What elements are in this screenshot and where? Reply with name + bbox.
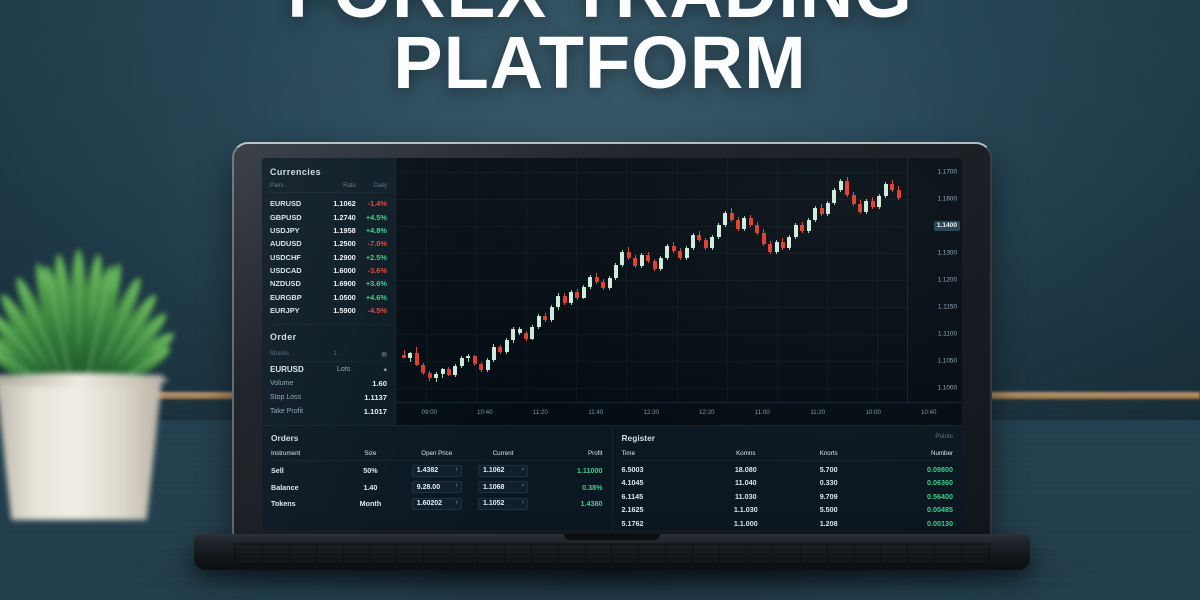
quote-price: 1.2500 — [319, 239, 356, 248]
keyboard-key[interactable] — [935, 550, 961, 554]
grid-line-vertical — [727, 158, 728, 402]
grid-line-horizontal — [396, 361, 907, 362]
keyboard-key[interactable] — [747, 550, 773, 554]
keyboard-key[interactable] — [397, 555, 423, 559]
laptop-screen: Currencies Pairs Rate Daily EURUSD1.1062… — [262, 158, 962, 530]
orders-table-header: Instrument Size Open Price Current Profi… — [271, 448, 603, 461]
keyboard-key[interactable] — [666, 555, 692, 559]
keyboard-key[interactable] — [693, 550, 719, 554]
keyboard-key[interactable] — [478, 559, 504, 563]
keyboard-key[interactable] — [532, 545, 558, 549]
keyboard-key[interactable] — [236, 550, 262, 554]
quote-change: -1.4% — [356, 199, 387, 208]
order-size: Month — [337, 499, 403, 508]
keyboard-key[interactable] — [424, 555, 450, 559]
keyboard-key[interactable] — [639, 545, 665, 549]
keyboard-key[interactable] — [908, 545, 934, 549]
keyboard-key[interactable] — [855, 559, 881, 563]
keyboard-key[interactable] — [397, 550, 423, 554]
keyboard-key[interactable] — [236, 559, 262, 563]
keyboard-key[interactable] — [559, 555, 585, 559]
keyboard-key[interactable] — [962, 555, 988, 559]
potted-plant — [0, 195, 205, 525]
keyboard-key[interactable] — [478, 545, 504, 549]
price-axis-tick: 1.1600 — [937, 195, 957, 202]
order-size: 1.40 — [337, 483, 403, 492]
trading-app: Currencies Pairs Rate Daily EURUSD1.1062… — [262, 158, 962, 530]
time-axis-tick: 12:30 — [644, 409, 659, 416]
keyboard-key[interactable] — [236, 555, 262, 559]
order-instrument: Balance — [271, 483, 337, 492]
grid-icon[interactable]: ▦ — [381, 351, 387, 358]
order-profit: 0.38% — [536, 483, 602, 492]
keyboard-key[interactable] — [263, 550, 289, 554]
orders-table-title: Orders — [271, 433, 603, 443]
grid-line-horizontal — [396, 334, 907, 335]
grid-line-vertical — [877, 158, 878, 402]
keyboard-key[interactable] — [370, 559, 396, 563]
orders-col-size: Size — [337, 450, 403, 457]
order-subheader: Shares 1 ▦ — [270, 348, 387, 362]
order-field-row[interactable]: Stop Loss1.1137 — [270, 390, 387, 404]
grid-line-vertical — [526, 158, 527, 402]
keyboard-key[interactable] — [290, 559, 316, 563]
quote-change: -3.6% — [356, 266, 387, 275]
order-field-value: 1.1137 — [364, 393, 387, 402]
quote-price: 1.2900 — [319, 253, 356, 262]
quote-row[interactable]: EURJPY1.5900-4.5% — [270, 304, 387, 317]
grid-line-vertical — [626, 158, 627, 402]
history-number: 0.06360 — [870, 478, 953, 487]
quotes-col-pairs: Pairs — [270, 183, 319, 189]
grid-line-horizontal — [396, 280, 907, 281]
quote-row[interactable]: EURGBP1.0500+4.6% — [270, 291, 387, 304]
history-table-title: Register — [622, 433, 954, 443]
keyboard-key[interactable] — [612, 545, 638, 549]
history-number: 0.56400 — [870, 492, 953, 501]
keyboard-key[interactable] — [935, 555, 961, 559]
table-row[interactable]: 6.500318.0805.7000.09800 — [622, 462, 954, 476]
quote-row[interactable]: EURUSD1.1062-1.4% — [270, 197, 387, 210]
keyboard-key[interactable] — [424, 559, 450, 563]
laptop: Currencies Pairs Rate Daily EURUSD1.1062… — [232, 142, 992, 562]
history-number: 0.00130 — [870, 519, 953, 528]
keyboard-key[interactable] — [586, 545, 612, 549]
app-upper-region: Currencies Pairs Rate Daily EURUSD1.1062… — [262, 158, 962, 425]
price-axis-tick: 1.1100 — [938, 331, 957, 338]
price-axis-tick: 1.1200 — [937, 277, 957, 284]
keyboard-key[interactable] — [666, 550, 692, 554]
order-size: 50% — [337, 466, 403, 475]
grid-line-vertical — [677, 158, 678, 402]
keyboard-key[interactable] — [881, 545, 907, 549]
quote-row[interactable]: USDCAD1.6000-3.6% — [270, 264, 387, 277]
quote-symbol: USDCHF — [270, 253, 319, 262]
grid-line-vertical — [476, 158, 477, 402]
order-fields: Volume1.60Stop Loss1.1137Take Profit1.10… — [270, 376, 387, 419]
quote-change: +4.8% — [356, 226, 387, 235]
history-komns: 1.1.000 — [704, 519, 787, 528]
order-instrument: Tokens — [271, 499, 337, 508]
time-axis-tick: 09:00 — [422, 409, 437, 416]
plant-pot — [0, 375, 168, 520]
keyboard-key[interactable] — [801, 550, 827, 554]
table-row[interactable]: 4.104511.0400.3300.06360 — [622, 476, 954, 490]
history-number: 0.09800 — [870, 465, 953, 474]
grid-line-horizontal — [396, 226, 907, 227]
table-row[interactable]: 5.17621.1.0001.2080.00130 — [622, 517, 954, 530]
keyboard-key[interactable] — [881, 550, 907, 554]
order-field-label: Stop Loss — [270, 394, 301, 401]
quote-price: 1.1062 — [319, 199, 356, 208]
keyboard-key[interactable] — [720, 559, 746, 563]
price-axis: 1.17001.16001.14001.13001.12001.11501.11… — [907, 158, 962, 402]
order-pair: EURUSD — [270, 365, 304, 374]
quote-row[interactable]: USDCHF1.2900+2.5% — [270, 251, 387, 264]
price-axis-tick: 1.1000 — [937, 385, 957, 392]
orders-col-current: Current — [470, 450, 536, 457]
keyboard-key[interactable] — [505, 545, 531, 549]
time-axis: 09:0010:4011:2011:4012:3012:2011:0011:20… — [396, 402, 962, 425]
keyboard-key[interactable] — [478, 555, 504, 559]
history-time: 6.1145 — [622, 492, 705, 501]
quote-row[interactable]: NZDUSD1.6900+3.6% — [270, 277, 387, 290]
keyboard-key[interactable] — [370, 555, 396, 559]
keyboard-key[interactable] — [962, 559, 988, 563]
keyboard-key[interactable] — [317, 559, 343, 563]
quote-price: 1.0500 — [319, 293, 356, 302]
keyboard-key[interactable] — [586, 550, 612, 554]
keyboard-key[interactable] — [828, 550, 854, 554]
keyboard-key[interactable] — [559, 550, 585, 554]
time-axis-tick: 11:20 — [533, 409, 548, 416]
keyboard-key[interactable] — [612, 559, 638, 563]
history-knorts: 5.700 — [787, 465, 870, 474]
time-axis-tick: 11:00 — [755, 409, 770, 416]
keyboard-key[interactable] — [290, 550, 316, 554]
table-row[interactable]: 2.16251.1.0305.5000.00485 — [622, 503, 954, 517]
grid-line-horizontal — [396, 388, 907, 389]
keyboard-key[interactable] — [451, 550, 477, 554]
chart-main: 1.17001.16001.14001.13001.12001.11501.11… — [396, 158, 962, 402]
quotes-col-rate: Rate — [319, 183, 356, 189]
history-more-label[interactable]: Points — [935, 433, 953, 440]
laptop-base — [194, 534, 1030, 570]
history-knorts: 5.500 — [787, 505, 870, 514]
order-current-price[interactable]: 1.1068 — [478, 481, 528, 493]
quote-symbol: NZDUSD — [270, 279, 319, 288]
keyboard-key[interactable] — [451, 545, 477, 549]
keyboard-key[interactable] — [532, 550, 558, 554]
history-komns: 11.030 — [704, 492, 787, 501]
keyboard-key[interactable] — [855, 555, 881, 559]
headline-line-2: PLATFORM — [0, 27, 1200, 98]
order-pair-side: Lots — [337, 366, 350, 373]
quote-symbol: EURGBP — [270, 293, 319, 302]
grid-line-horizontal — [396, 199, 907, 200]
quote-symbol: USDCAD — [270, 266, 319, 275]
chevron-up-icon[interactable]: ▴ — [383, 365, 387, 373]
order-shares-label: Shares — [270, 351, 289, 357]
laptop-notch — [564, 534, 660, 540]
price-axis-tick: 1.1300 — [937, 249, 957, 256]
keyboard-key[interactable] — [344, 555, 370, 559]
order-current-price[interactable]: 1.1062 — [478, 465, 528, 477]
table-row[interactable]: Sell50%1.43821.10621.11000 — [271, 462, 603, 479]
keyboard-key[interactable] — [774, 545, 800, 549]
keyboard-key[interactable] — [801, 555, 827, 559]
keyboard-key[interactable] — [935, 559, 961, 563]
keyboard-key[interactable] — [344, 550, 370, 554]
time-axis-tick: 12:20 — [699, 409, 714, 416]
order-pair-row[interactable]: EURUSD Lots ▴ — [270, 362, 387, 376]
keyboard-key[interactable] — [908, 550, 934, 554]
order-current-price[interactable]: 1.1052 — [478, 498, 528, 510]
app-lower-region: Orders Instrument Size Open Price Curren… — [262, 425, 962, 530]
quote-row[interactable]: GBPUSD1.2740+4.5% — [270, 210, 387, 223]
keyboard-key[interactable] — [720, 555, 746, 559]
time-axis-tick: 10:00 — [865, 409, 880, 416]
keyboard-key[interactable] — [774, 550, 800, 554]
grid-line-vertical — [827, 158, 828, 402]
keyboard-key[interactable] — [908, 555, 934, 559]
keyboard-key[interactable] — [263, 555, 289, 559]
keyboard-key[interactable] — [881, 555, 907, 559]
keyboard-key[interactable] — [855, 550, 881, 554]
table-row[interactable]: TokensMonth1.602021.10521.4380 — [271, 495, 603, 512]
order-field-label: Volume — [270, 380, 293, 387]
order-open-price[interactable]: 9.28.00 — [412, 481, 462, 493]
quote-symbol: AUDUSD — [270, 239, 319, 248]
grid-line-vertical — [777, 158, 778, 402]
keyboard-key[interactable] — [290, 545, 316, 549]
keyboard-key[interactable] — [747, 559, 773, 563]
keyboard-key[interactable] — [693, 545, 719, 549]
keyboard-key[interactable] — [828, 555, 854, 559]
order-field-value: 1.1017 — [364, 407, 387, 416]
keyboard-key[interactable] — [370, 545, 396, 549]
keyboard-key[interactable] — [801, 559, 827, 563]
grid-line-vertical — [426, 158, 427, 402]
price-axis-tick: 1.1150 — [938, 304, 957, 311]
order-field-label: Take Profit — [270, 408, 303, 415]
order-shares-value: 1 — [334, 351, 337, 357]
table-row[interactable]: 6.114511.0309.7090.56400 — [622, 489, 954, 503]
keyboard-key[interactable] — [855, 545, 881, 549]
time-axis-tick: 11:40 — [588, 409, 603, 416]
history-table-body: 6.500318.0805.7000.098004.104511.0400.33… — [622, 462, 954, 530]
time-axis-tick: 11:20 — [810, 409, 825, 416]
quote-change: +4.6% — [356, 293, 387, 302]
keyboard-key[interactable] — [586, 555, 612, 559]
keyboard-key[interactable] — [424, 550, 450, 554]
history-knorts: 1.208 — [787, 519, 870, 528]
keyboard-key[interactable] — [451, 555, 477, 559]
grid-line-horizontal — [396, 307, 907, 308]
keyboard-key[interactable] — [612, 550, 638, 554]
order-profit: 1.11000 — [536, 466, 602, 475]
history-knorts: 0.330 — [787, 478, 870, 487]
keyboard-key[interactable] — [639, 550, 665, 554]
chart-panel: 1.17001.16001.14001.13001.12001.11501.11… — [396, 158, 962, 425]
grid-line-horizontal — [396, 172, 907, 173]
keyboard-key[interactable] — [935, 545, 961, 549]
time-axis-tick: 10:40 — [477, 409, 492, 416]
keyboard-key[interactable] — [666, 559, 692, 563]
time-axis-tick: 10:40 — [921, 409, 936, 416]
scene: FOREX TRADING PLATFORM Currencies Pairs … — [0, 0, 1200, 600]
history-table-header: Time Komns Knorts Number — [622, 448, 954, 461]
history-time: 5.1762 — [622, 519, 705, 528]
keyboard-key[interactable] — [559, 545, 585, 549]
order-field-row[interactable]: Take Profit1.1017 — [270, 405, 387, 419]
quotes-panel-title: Currencies — [270, 167, 387, 177]
orders-col-profit: Profit — [536, 450, 602, 457]
quote-symbol: EURUSD — [270, 199, 319, 208]
history-time: 2.1625 — [622, 505, 705, 514]
keyboard-key[interactable] — [559, 559, 585, 563]
keyboard-key[interactable] — [370, 550, 396, 554]
keyboard-key[interactable] — [962, 545, 988, 549]
price-axis-tick: 1.1700 — [937, 168, 957, 175]
history-col-knorts: Knorts — [787, 450, 870, 457]
keyboard-key[interactable] — [344, 545, 370, 549]
keyboard[interactable] — [234, 543, 990, 565]
keyboard-key[interactable] — [424, 545, 450, 549]
keyboard-key[interactable] — [639, 559, 665, 563]
quote-change: +3.6% — [356, 279, 387, 288]
keyboard-key[interactable] — [263, 545, 289, 549]
history-komns: 18.080 — [704, 465, 787, 474]
keyboard-key[interactable] — [397, 559, 423, 563]
orders-table-body: Sell50%1.43821.10621.11000Balance1.409.2… — [271, 462, 603, 512]
keyboard-key[interactable] — [908, 559, 934, 563]
keyboard-key[interactable] — [747, 555, 773, 559]
quote-price: 1.2740 — [319, 213, 356, 222]
price-axis-tick: 1.1050 — [937, 358, 957, 365]
keyboard-key[interactable] — [881, 559, 907, 563]
keyboard-key[interactable] — [344, 559, 370, 563]
keyboard-key[interactable] — [397, 545, 423, 549]
keyboard-key[interactable] — [720, 545, 746, 549]
history-col-komns: Komns — [704, 450, 787, 457]
keyboard-key[interactable] — [532, 559, 558, 563]
orders-table-panel: Orders Instrument Size Open Price Curren… — [262, 426, 612, 530]
keyboard-key[interactable] — [263, 559, 289, 563]
quote-change: -7.0% — [356, 239, 387, 248]
order-open-price[interactable]: 1.60202 — [412, 498, 462, 510]
order-open-price[interactable]: 1.4382 — [412, 465, 462, 477]
keyboard-key[interactable] — [774, 559, 800, 563]
keyboard-key[interactable] — [774, 555, 800, 559]
keyboard-key[interactable] — [693, 555, 719, 559]
keyboard-key[interactable] — [962, 550, 988, 554]
keyboard-key[interactable] — [505, 559, 531, 563]
quote-symbol: EURJPY — [270, 306, 319, 315]
quote-symbol: USDJPY — [270, 226, 319, 235]
quote-price: 1.6000 — [319, 266, 356, 275]
order-profit: 1.4380 — [536, 499, 602, 508]
quote-price: 1.5900 — [319, 306, 356, 315]
history-col-time: Time — [622, 450, 705, 457]
quote-change: -4.5% — [356, 306, 387, 315]
quote-row[interactable]: AUDUSD1.2500-7.0% — [270, 237, 387, 250]
keyboard-key[interactable] — [828, 545, 854, 549]
keyboard-key[interactable] — [505, 550, 531, 554]
quotes-col-daily: Daily — [356, 183, 387, 189]
price-tag-current: 1.1400 — [934, 221, 960, 231]
candlestick-plot[interactable] — [396, 158, 907, 402]
keyboard-key[interactable] — [720, 550, 746, 554]
order-field-row[interactable]: Volume1.60 — [270, 376, 387, 390]
history-komns: 1.1.030 — [704, 505, 787, 514]
quotes-header: Pairs Rate Daily — [270, 183, 387, 193]
orders-col-open: Open Price — [404, 450, 470, 457]
history-time: 6.5003 — [622, 465, 705, 474]
sidebar: Currencies Pairs Rate Daily EURUSD1.1062… — [262, 158, 396, 425]
history-time: 4.1045 — [622, 478, 705, 487]
keyboard-key[interactable] — [586, 559, 612, 563]
keyboard-key[interactable] — [505, 555, 531, 559]
keyboard-key[interactable] — [747, 545, 773, 549]
keyboard-key[interactable] — [290, 555, 316, 559]
quote-change: +4.5% — [356, 213, 387, 222]
history-number: 0.00485 — [870, 505, 953, 514]
keyboard-key[interactable] — [317, 555, 343, 559]
grid-line-horizontal — [396, 253, 907, 254]
keyboard-key[interactable] — [451, 559, 477, 563]
quote-symbol: GBPUSD — [270, 213, 319, 222]
keyboard-key[interactable] — [666, 545, 692, 549]
table-row[interactable]: Balance1.409.28.001.10680.38% — [271, 479, 603, 496]
keyboard-key[interactable] — [639, 555, 665, 559]
history-komns: 11.040 — [704, 478, 787, 487]
history-col-number: Number — [870, 450, 953, 457]
keyboard-key[interactable] — [317, 545, 343, 549]
keyboard-key[interactable] — [478, 550, 504, 554]
keyboard-key[interactable] — [236, 545, 262, 549]
quote-row[interactable]: USDJPY1.1958+4.8% — [270, 224, 387, 237]
order-instrument: Sell — [271, 466, 337, 475]
quote-change: +2.5% — [356, 253, 387, 262]
history-knorts: 9.709 — [787, 492, 870, 501]
keyboard-key[interactable] — [612, 555, 638, 559]
keyboard-key[interactable] — [693, 559, 719, 563]
orders-col-instrument: Instrument — [271, 450, 337, 457]
history-table-panel: Register Points Time Komns Knorts Number… — [612, 426, 963, 530]
keyboard-key[interactable] — [317, 550, 343, 554]
keyboard-key[interactable] — [828, 559, 854, 563]
keyboard-key[interactable] — [532, 555, 558, 559]
quote-price: 1.1958 — [319, 226, 356, 235]
order-field-value: 1.60 — [372, 379, 387, 388]
keyboard-key[interactable] — [801, 545, 827, 549]
page-title: FOREX TRADING PLATFORM — [0, 0, 1200, 98]
quotes-list: EURUSD1.1062-1.4%GBPUSD1.2740+4.5%USDJPY… — [270, 197, 387, 317]
grid-line-vertical — [576, 158, 577, 402]
order-panel-title: Order — [270, 332, 387, 342]
quote-price: 1.6900 — [319, 279, 356, 288]
